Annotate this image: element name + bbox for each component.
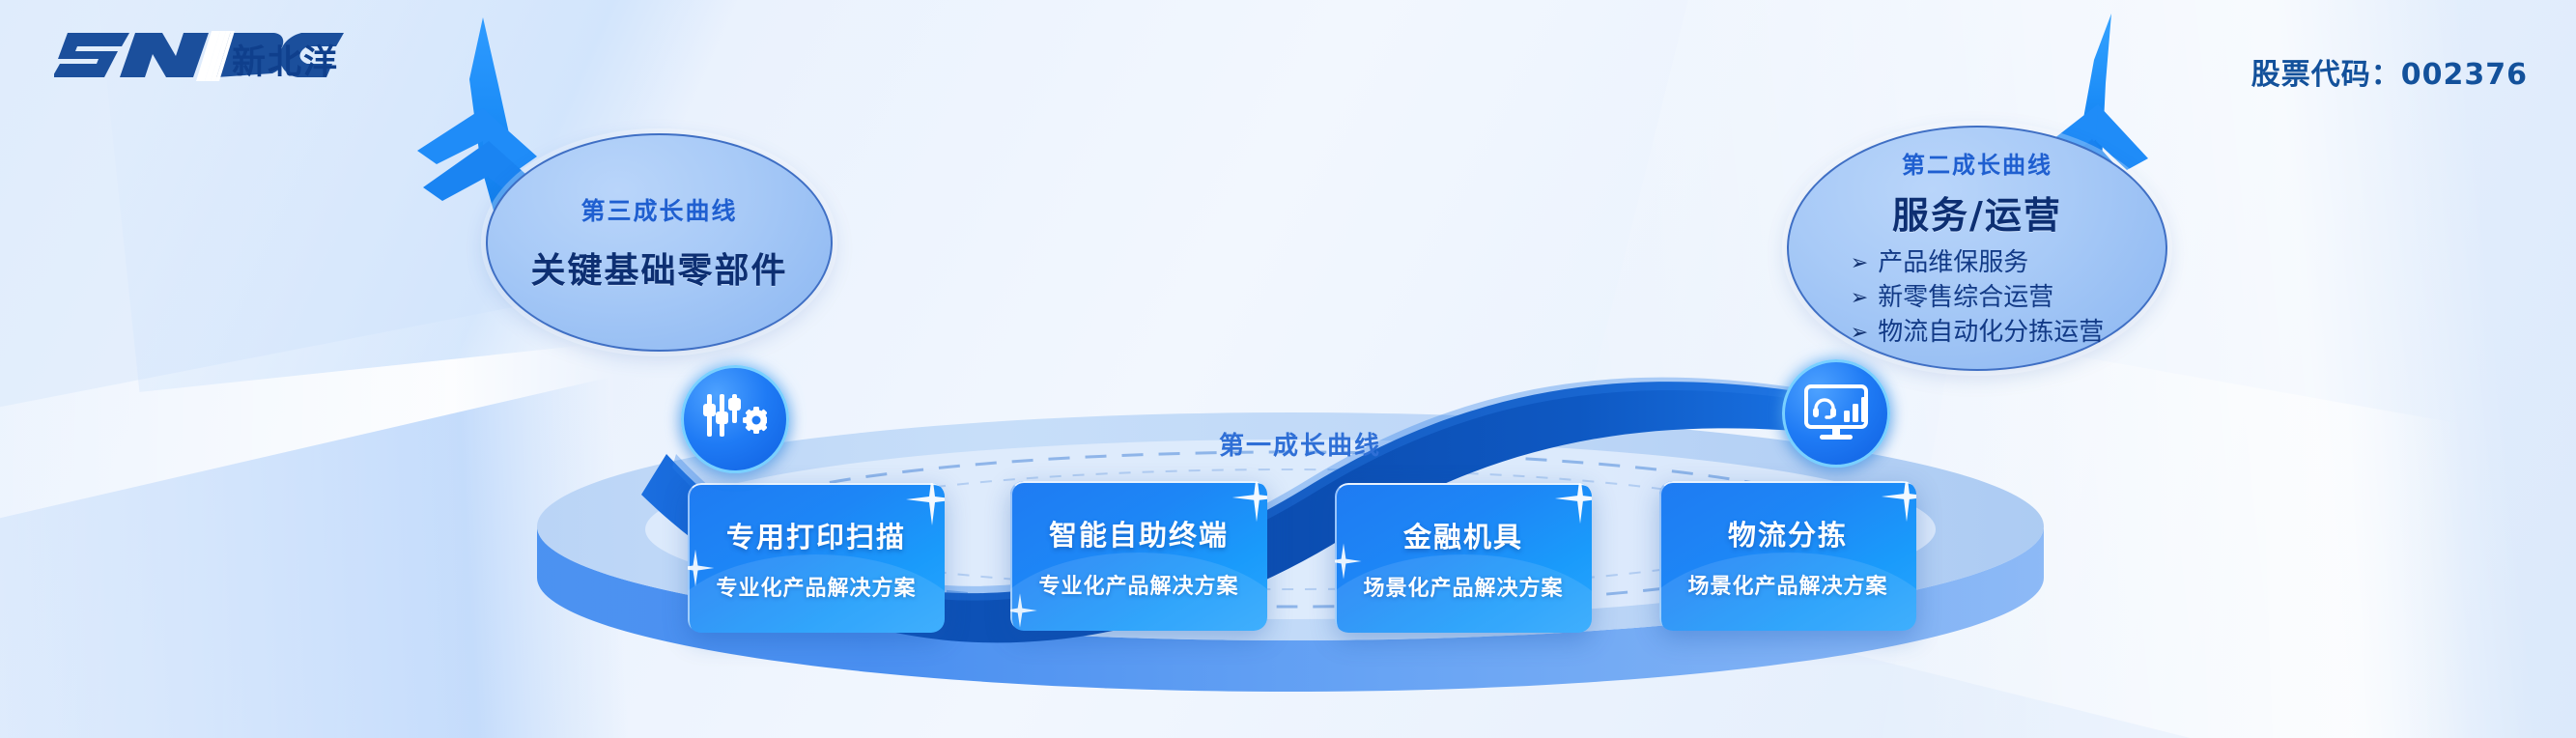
arrow-bullet-icon: ➢ <box>1851 284 1868 313</box>
sliders-gear-icon <box>703 390 767 448</box>
list-item: ➢ 新零售综合运营 <box>1851 281 2104 316</box>
bubble-title: 服务/运营 <box>1892 185 2062 239</box>
service-operations-icon-badge[interactable] <box>1782 359 1890 468</box>
card-subtitle: 专业化产品解决方案 <box>716 571 916 602</box>
card-subtitle: 场景化产品解决方案 <box>1687 569 1887 600</box>
growth-curve-artwork <box>0 0 2576 738</box>
list-item: ➢ 产品维保服务 <box>1851 246 2104 281</box>
list-item: ➢ 物流自动化分拣运营 <box>1851 316 2104 351</box>
list-item-label: 产品维保服务 <box>1878 246 2028 281</box>
product-card[interactable]: 物流分拣 场景化产品解决方案 <box>1659 481 1916 631</box>
product-card[interactable]: 金融机具 场景化产品解决方案 <box>1335 483 1592 633</box>
first-growth-curve-label: 第一成长曲线 <box>1219 426 1381 462</box>
product-card[interactable]: 专用打印扫描 专业化产品解决方案 <box>688 483 945 633</box>
card-title: 物流分拣 <box>1728 513 1848 553</box>
sliders-gear-icon-badge[interactable] <box>681 365 789 473</box>
bubble-subtitle: 第三成长曲线 <box>580 192 737 227</box>
second-growth-curve-bubble[interactable]: 第二成长曲线 服务/运营 ➢ 产品维保服务 ➢ 新零售综合运营 ➢ 物流自动化分… <box>1787 126 2167 371</box>
arrow-bullet-icon: ➢ <box>1851 319 1868 348</box>
card-subtitle: 场景化产品解决方案 <box>1363 571 1563 602</box>
bubble-title: 关键基础零部件 <box>530 242 787 293</box>
card-title: 智能自助终端 <box>1049 513 1229 553</box>
list-item-label: 新零售综合运营 <box>1878 281 2053 316</box>
monitor-headset-chart-icon <box>1803 383 1869 443</box>
bubble-bullet-list: ➢ 产品维保服务 ➢ 新零售综合运营 ➢ 物流自动化分拣运营 <box>1851 246 2104 351</box>
product-card[interactable]: 智能自助终端 专业化产品解决方案 <box>1010 481 1267 631</box>
arrow-bullet-icon: ➢ <box>1851 249 1868 278</box>
bubble-subtitle: 第二成长曲线 <box>1902 146 2052 180</box>
third-growth-curve-bubble[interactable]: 第三成长曲线 关键基础零部件 <box>486 133 833 352</box>
card-subtitle: 专业化产品解决方案 <box>1038 569 1238 600</box>
slide-canvas: 新北洋 股票代码：002376 <box>0 0 2576 738</box>
list-item-label: 物流自动化分拣运营 <box>1878 316 2104 351</box>
card-title: 金融机具 <box>1403 515 1523 555</box>
card-title: 专用打印扫描 <box>726 515 906 555</box>
